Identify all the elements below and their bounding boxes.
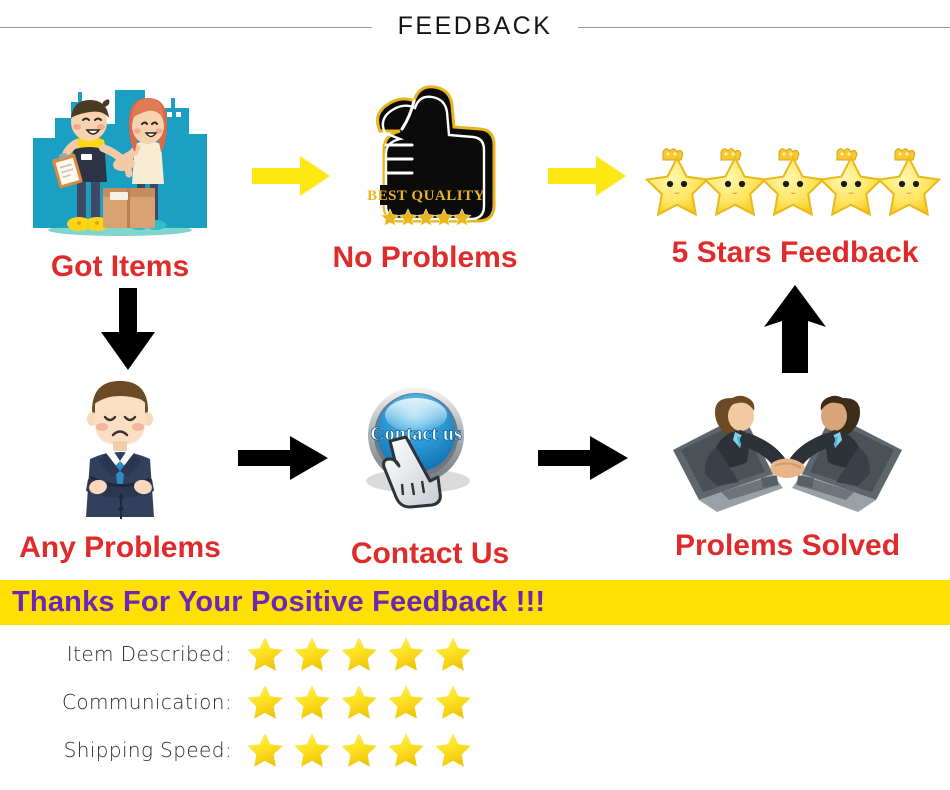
header-rule-right: [578, 27, 950, 28]
rating-label: Communication:: [0, 690, 246, 714]
arrow-problems-solved-to-five-stars: [762, 283, 828, 375]
rating-stars: [246, 683, 472, 721]
star-icon: [246, 635, 284, 673]
svg-text:BEST QUALITY: BEST QUALITY: [367, 188, 485, 204]
sad-businessman-illustration: [50, 375, 190, 525]
rating-stars: [246, 635, 472, 673]
star-icon: [293, 731, 331, 769]
flow-step-problems-solved: Prolems Solved: [660, 388, 915, 563]
star-icon: [246, 683, 284, 721]
flow-step-caption: 5 Stars Feedback: [645, 236, 945, 270]
svg-text:Contact us: Contact us: [370, 423, 462, 445]
rating-row: Communication:: [0, 678, 950, 726]
star-icon: [293, 635, 331, 673]
flow-step-contact-us: Contact us Contact Us: [335, 385, 525, 571]
flow-step-got-items: Got Items: [0, 82, 240, 284]
star-icon: [434, 731, 472, 769]
flow-step-caption: No Problems: [330, 241, 520, 275]
star-icon: [387, 635, 425, 673]
rating-row: Item Described:: [0, 630, 950, 678]
star-icon: [293, 683, 331, 721]
flow-step-five-stars-feedback: 5 Stars Feedback: [645, 140, 945, 270]
page-title: FEEDBACK: [398, 12, 553, 41]
flow-step-caption: Prolems Solved: [660, 529, 915, 563]
rating-list: Item Described: Communication: Shipping …: [0, 630, 950, 774]
star-icon: [387, 731, 425, 769]
star-icon: [340, 683, 378, 721]
flow-step-caption: Got Items: [0, 250, 240, 284]
flow-step-no-problems: BEST QUALITY No Problems: [330, 85, 520, 275]
handshake-through-laptops-illustration: [665, 388, 910, 523]
delivery-handover-illustration: [15, 82, 225, 242]
rating-label: Shipping Speed:: [0, 738, 246, 762]
rating-label: Item Described:: [0, 642, 246, 666]
arrow-contact-us-to-problems-solved: [538, 430, 630, 486]
thanks-banner: Thanks For Your Positive Feedback !!!: [0, 580, 950, 625]
star-icon: [340, 635, 378, 673]
star-icon: [434, 635, 472, 673]
header-rule-left: [0, 27, 372, 28]
flow-step-caption: Any Problems: [0, 531, 240, 565]
arrow-got-items-to-any-problems: [95, 288, 161, 372]
thumbs-up-best-quality-badge: BEST QUALITY: [350, 85, 500, 235]
flow-step-any-problems: Any Problems: [0, 375, 240, 565]
arrow-got-items-to-no-problems: [252, 152, 332, 200]
star-icon: [340, 731, 378, 769]
star-icon: [387, 683, 425, 721]
rating-row: Shipping Speed:: [0, 726, 950, 774]
star-icon: [246, 731, 284, 769]
star-icon: [434, 683, 472, 721]
arrow-no-problems-to-five-stars: [548, 152, 628, 200]
thanks-banner-text: Thanks For Your Positive Feedback !!!: [0, 586, 545, 619]
page-header: FEEDBACK: [0, 0, 950, 52]
rating-stars: [246, 731, 472, 769]
flow-step-caption: Contact Us: [335, 537, 525, 571]
contact-us-button-with-cursor[interactable]: Contact us: [340, 385, 520, 535]
five-crown-stars: [645, 140, 945, 218]
arrow-any-problems-to-contact-us: [238, 430, 330, 486]
